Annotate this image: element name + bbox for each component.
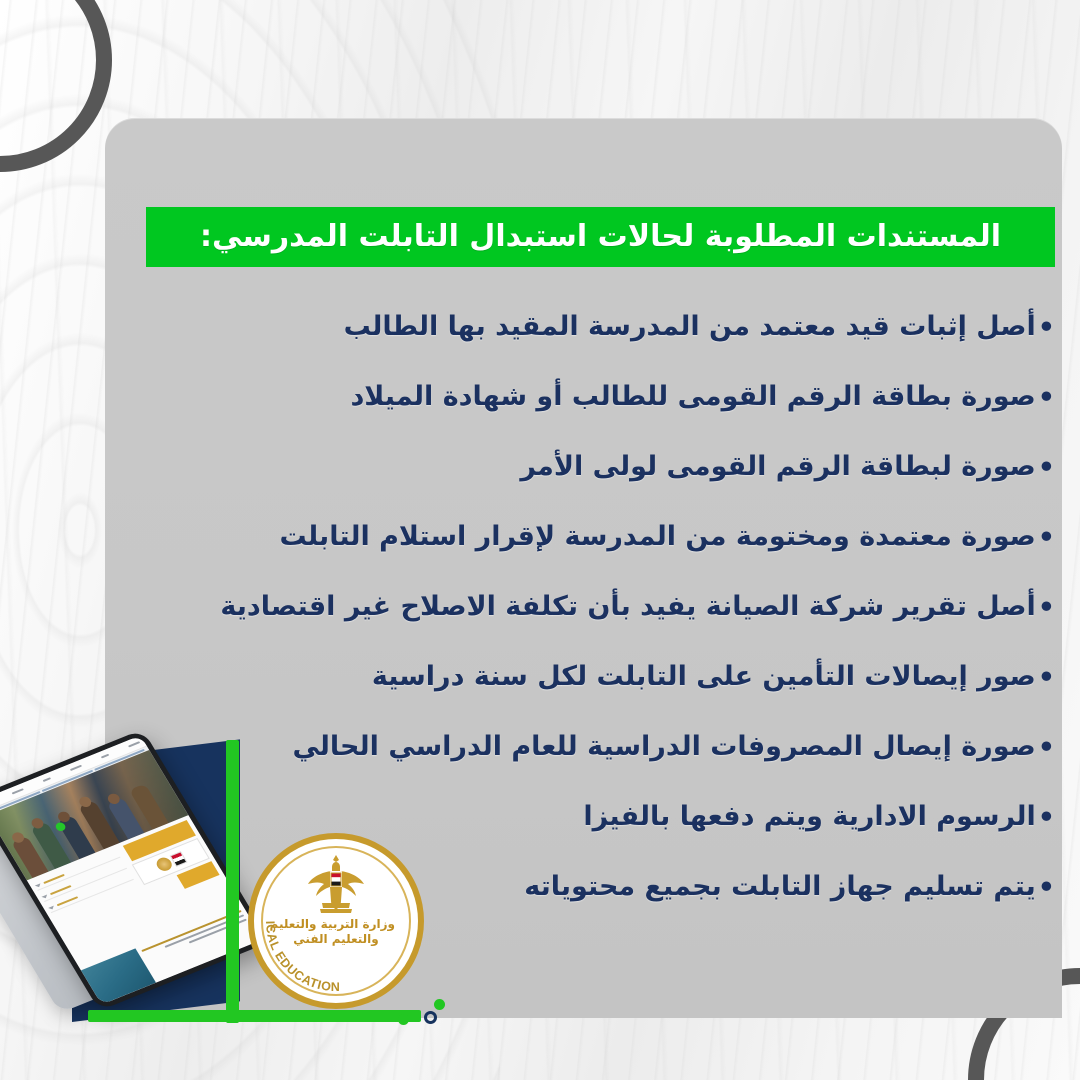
bullet-icon: • bbox=[1038, 312, 1055, 343]
form-label-placeholder bbox=[43, 874, 65, 884]
header-banner: المستندات المطلوبة لحالات استبدال التابل… bbox=[146, 207, 1055, 267]
nav-link-placeholder bbox=[12, 788, 24, 794]
list-item-label: أصل تقرير شركة الصيانة يفيد بأن تكلفة ال… bbox=[220, 592, 1035, 622]
ministry-seal: MINISTRY OF EDUCATION AND TECHNICAL EDUC… bbox=[248, 833, 424, 1009]
form-label-placeholder bbox=[50, 885, 72, 895]
decorative-dot-green bbox=[434, 999, 445, 1010]
decorative-dot-ring bbox=[424, 1011, 437, 1024]
chevron-down-icon bbox=[48, 905, 55, 910]
nav-link-placeholder bbox=[128, 741, 140, 747]
list-item-label: صور إيصالات التأمين على التابلت لكل سنة … bbox=[372, 662, 1036, 692]
poster-canvas: المستندات المطلوبة لحالات استبدال التابل… bbox=[0, 0, 1080, 1080]
list-item: • صورة بطاقة الرقم القومى للطالب أو شهاد… bbox=[120, 362, 1055, 432]
list-item-label: يتم تسليم جهاز التابلت بجميع محتوياته bbox=[524, 872, 1036, 902]
nav-link-placeholder bbox=[70, 765, 82, 771]
bullet-icon: • bbox=[1038, 802, 1055, 833]
list-item-label: الرسوم الادارية ويتم دفعها بالفيزا bbox=[583, 802, 1035, 832]
decorative-dot-green bbox=[398, 1014, 409, 1025]
chevron-down-icon bbox=[34, 883, 41, 888]
list-item-label: صورة بطاقة الرقم القومى للطالب أو شهادة … bbox=[350, 382, 1035, 412]
tablet-devices-illustration bbox=[0, 742, 264, 1032]
bullet-icon: • bbox=[1038, 522, 1055, 553]
seal-arabic-text: وزارة التربية والتعليم والتعليم الفني bbox=[277, 917, 395, 947]
bullet-icon: • bbox=[1038, 872, 1055, 903]
list-item-label: صورة معتمدة ومختومة من المدرسة لإقرار اس… bbox=[279, 522, 1035, 552]
list-item-label: صورة لبطاقة الرقم القومى لولى الأمر bbox=[520, 452, 1035, 482]
eagle-of-saladin-icon bbox=[306, 853, 366, 915]
bullet-icon: • bbox=[1038, 662, 1055, 693]
green-bracket-vertical bbox=[226, 740, 239, 1023]
list-item: • صورة معتمدة ومختومة من المدرسة لإقرار … bbox=[120, 502, 1055, 572]
bullet-icon: • bbox=[1038, 452, 1055, 483]
bullet-icon: • bbox=[1038, 732, 1055, 763]
green-bracket-horizontal bbox=[88, 1010, 421, 1022]
chevron-down-icon bbox=[41, 894, 48, 899]
list-item: • صورة لبطاقة الرقم القومى لولى الأمر bbox=[120, 432, 1055, 502]
list-item: • صور إيصالات التأمين على التابلت لكل سن… bbox=[120, 642, 1055, 712]
list-item-label: أصل إثبات قيد معتمد من المدرسة المقيد به… bbox=[344, 312, 1036, 342]
list-item: • أصل إثبات قيد معتمد من المدرسة المقيد … bbox=[120, 292, 1055, 362]
list-item: • أصل تقرير شركة الصيانة يفيد بأن تكلفة … bbox=[120, 572, 1055, 642]
header-banner-title: المستندات المطلوبة لحالات استبدال التابل… bbox=[200, 222, 1001, 252]
nav-link-placeholder bbox=[101, 754, 110, 759]
bullet-icon: • bbox=[1038, 592, 1055, 623]
bullet-icon: • bbox=[1038, 382, 1055, 413]
nav-link-placeholder bbox=[43, 777, 52, 782]
list-item-label: صورة إيصال المصروفات الدراسية للعام الدر… bbox=[292, 732, 1035, 762]
seal-arabic-line-2: والتعليم الفني bbox=[277, 932, 395, 947]
form-label-placeholder bbox=[57, 896, 79, 906]
seal-arabic-line-1: وزارة التربية والتعليم bbox=[277, 917, 395, 932]
